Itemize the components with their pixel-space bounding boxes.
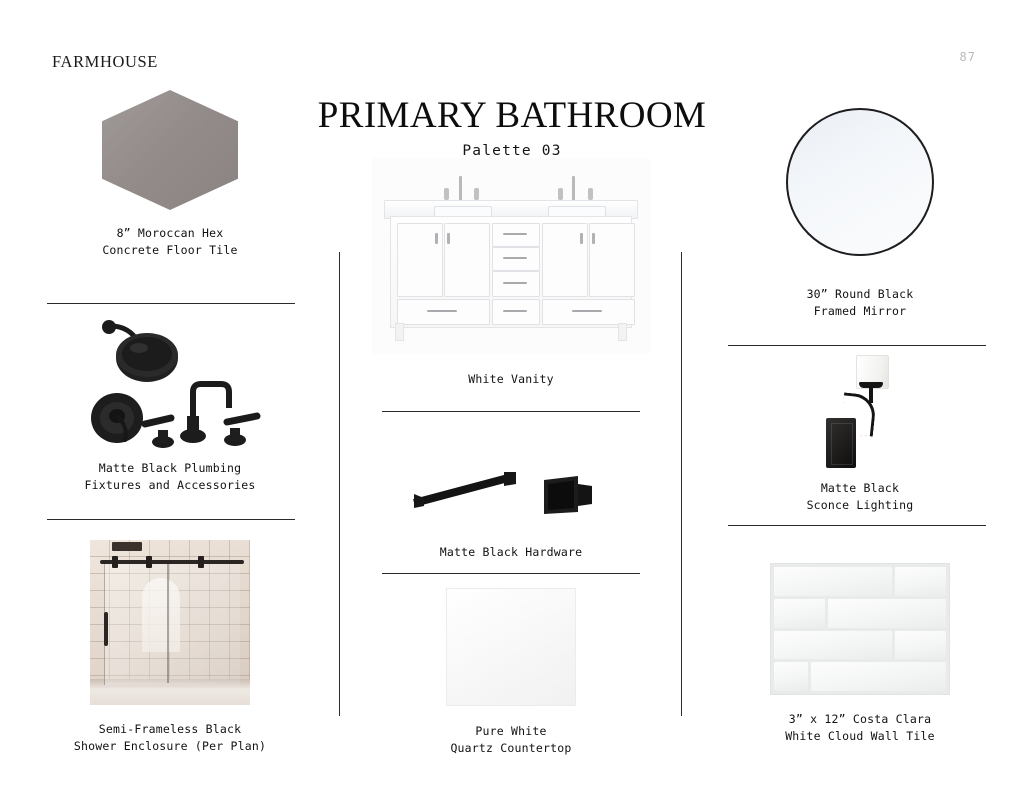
item-mirror[interactable]: 30” Round Black Framed Mirror [730, 108, 990, 320]
item-caption-line1: 8” Moroccan Hex [45, 225, 295, 242]
item-caption-line2: Fixtures and Accessories [45, 477, 295, 494]
item-hardware[interactable]: Matte Black Hardware [400, 450, 622, 561]
item-floor-tile[interactable]: 8” Moroccan Hex Concrete Floor Tile [45, 90, 295, 259]
item-caption-line1: Matte Black Plumbing [45, 460, 295, 477]
tile-brick [895, 631, 946, 660]
tile-brick [774, 631, 892, 660]
item-caption-line2: Shower Enclosure (Per Plan) [45, 738, 295, 755]
drawer-pull [503, 282, 527, 284]
vanity-drawer [492, 271, 540, 297]
item-vanity[interactable]: White Vanity [371, 158, 651, 388]
shower-slider-rail [100, 560, 244, 564]
tile-brick [828, 599, 946, 628]
section-divider [47, 303, 295, 304]
drawer-pull [503, 257, 527, 259]
shower-roller [198, 556, 204, 568]
item-caption-line1: White Vanity [371, 371, 651, 388]
vanity-drawer [397, 299, 490, 325]
plumbing-fixtures-icon [75, 312, 265, 452]
tile-row [774, 662, 946, 691]
white-double-sink-vanity-photo [372, 158, 650, 354]
vanity-leg [618, 323, 627, 341]
tile-row [774, 599, 946, 628]
shower-head-fixture [112, 542, 142, 551]
item-caption-line2: Concrete Floor Tile [45, 242, 295, 259]
sliding-glass-shower-door-photo [90, 540, 250, 705]
vanity-knob [580, 233, 583, 244]
vanity-door [589, 223, 635, 297]
tile-brick [774, 567, 892, 596]
hexagon-tile-swatch [102, 90, 238, 210]
shower-glass-seam [167, 560, 169, 683]
tile-row [774, 631, 946, 660]
black-wall-sconce-with-white-shade [812, 352, 908, 472]
faucet-handle [474, 188, 479, 200]
drawer-pull [427, 310, 457, 312]
faucet-handle [444, 188, 449, 200]
faucet-spout [459, 176, 462, 202]
shower-door-handle [104, 612, 108, 646]
item-sconce[interactable]: Matte Black Sconce Lighting [730, 352, 990, 514]
matte-black-shower-and-faucet-group [75, 312, 265, 452]
item-caption-line1: Semi-Frameless Black [45, 721, 295, 738]
vanity-drawer [492, 247, 540, 271]
tile-brick [774, 662, 808, 691]
vanity-drawer [492, 299, 540, 325]
item-caption-line1: Matte Black Hardware [400, 544, 622, 561]
section-divider [382, 573, 640, 574]
vanity-drawer [542, 299, 635, 325]
sconce-backplate-detail [831, 423, 853, 465]
section-divider [382, 411, 640, 412]
round-black-framed-mirror [786, 108, 934, 256]
item-wall-tile[interactable]: 3” x 12” Costa Clara White Cloud Wall Ti… [730, 563, 990, 745]
tile-brick [774, 599, 825, 628]
column-divider-right [681, 252, 682, 716]
item-caption-line1: Pure White [396, 723, 626, 740]
hardware-icon [404, 450, 619, 538]
brand-label: FARMHOUSE [52, 52, 158, 72]
vanity-knob [592, 233, 595, 244]
section-divider [728, 525, 986, 526]
tile-brick [811, 662, 946, 691]
section-divider [728, 345, 986, 346]
faucet-handle [588, 188, 593, 200]
item-caption-line2: White Cloud Wall Tile [730, 728, 990, 745]
vanity-knob [435, 233, 438, 244]
shower-glass-panel [104, 560, 240, 685]
item-caption-line1: 3” x 12” Costa Clara [730, 711, 990, 728]
item-caption-line2: Framed Mirror [730, 303, 990, 320]
item-plumbing-fixtures[interactable]: Matte Black Plumbing Fixtures and Access… [45, 312, 295, 494]
vanity-drawer [492, 223, 540, 247]
page-number: 87 [960, 50, 976, 64]
tile-row [774, 567, 946, 596]
shower-roller [112, 556, 118, 568]
vanity-door [444, 223, 490, 297]
shower-roller [146, 556, 152, 568]
item-caption-line2: Sconce Lighting [730, 497, 990, 514]
item-caption-line1: 30” Round Black [730, 286, 990, 303]
item-caption-line1: Matte Black [730, 480, 990, 497]
matte-black-towel-bar-and-hook [404, 450, 619, 538]
item-countertop[interactable]: Pure White Quartz Countertop [396, 588, 626, 757]
drawer-pull [572, 310, 602, 312]
section-divider [47, 519, 295, 520]
vanity-cabinet-body [390, 216, 632, 328]
faucet-handle [558, 188, 563, 200]
white-subway-wall-tile-swatch [770, 563, 950, 695]
vanity-leg [395, 323, 404, 341]
drawer-pull [503, 233, 527, 235]
drawer-pull [503, 310, 527, 312]
column-divider-left [339, 252, 340, 716]
faucet-spout [572, 176, 575, 202]
item-caption-line2: Quartz Countertop [396, 740, 626, 757]
white-quartz-swatch [446, 588, 576, 706]
vanity-knob [447, 233, 450, 244]
tile-brick [895, 567, 946, 596]
item-shower-enclosure[interactable]: Semi-Frameless Black Shower Enclosure (P… [45, 540, 295, 755]
